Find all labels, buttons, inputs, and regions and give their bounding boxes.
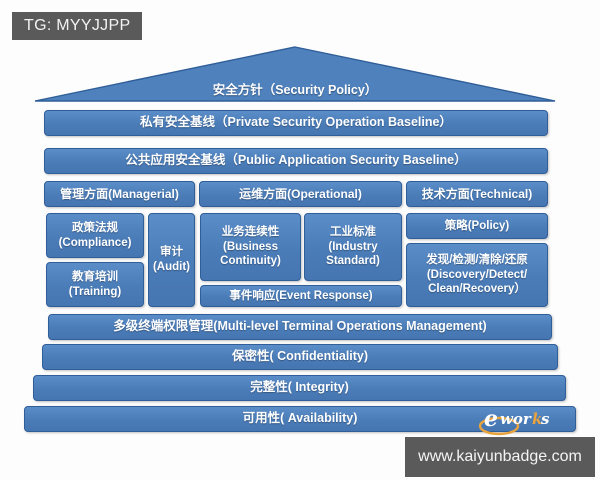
watermark-url: www.kaiyunbadge.com xyxy=(405,437,595,477)
column-head-operational[interactable]: 运维方面(Operational) xyxy=(199,181,402,207)
block-event-response[interactable]: 事件响应(Event Response) xyxy=(200,285,402,307)
foundation-integrity[interactable]: 完整性( Integrity) xyxy=(33,375,566,401)
block-discovery-detect-clean-recovery[interactable]: 发现/检测/清除/还原 (Discovery/Detect/ Clean/Rec… xyxy=(406,243,548,307)
foundation-confidentiality[interactable]: 保密性( Confidentiality) xyxy=(42,344,558,370)
column-head-managerial[interactable]: 管理方面(Managerial) xyxy=(44,181,195,207)
column-head-technical[interactable]: 技术方面(Technical) xyxy=(406,181,548,207)
baseline-public[interactable]: 公共应用安全基线（Public Application Security Bas… xyxy=(44,148,548,174)
baseline-private[interactable]: 私有安全基线（Private Security Operation Baseli… xyxy=(44,110,548,136)
block-compliance[interactable]: 政策法规 (Compliance) xyxy=(46,213,144,258)
block-industry-standard[interactable]: 工业标准 (Industry Standard) xyxy=(304,213,402,281)
block-policy[interactable]: 策略(Policy) xyxy=(406,213,548,239)
foundation-multilevel-terminal[interactable]: 多级终端权限管理(Multi-level Terminal Operations… xyxy=(48,314,552,340)
tg-tag-label: TG: MYYJJPP xyxy=(12,12,142,40)
pyramid-roof: 安全方针（Security Policy） xyxy=(33,45,557,103)
diagram-canvas: TG: MYYJJPP 安全方针（Security Policy） 私有安全基线… xyxy=(0,0,600,480)
roof-label: 安全方针（Security Policy） xyxy=(33,45,557,103)
block-audit[interactable]: 审计 (Audit) xyxy=(148,213,195,307)
block-training[interactable]: 教育培训 (Training) xyxy=(46,262,144,307)
foundation-availability[interactable]: 可用性( Availability) xyxy=(24,406,576,432)
block-business-continuity[interactable]: 业务连续性 (Business Continuity) xyxy=(200,213,301,281)
